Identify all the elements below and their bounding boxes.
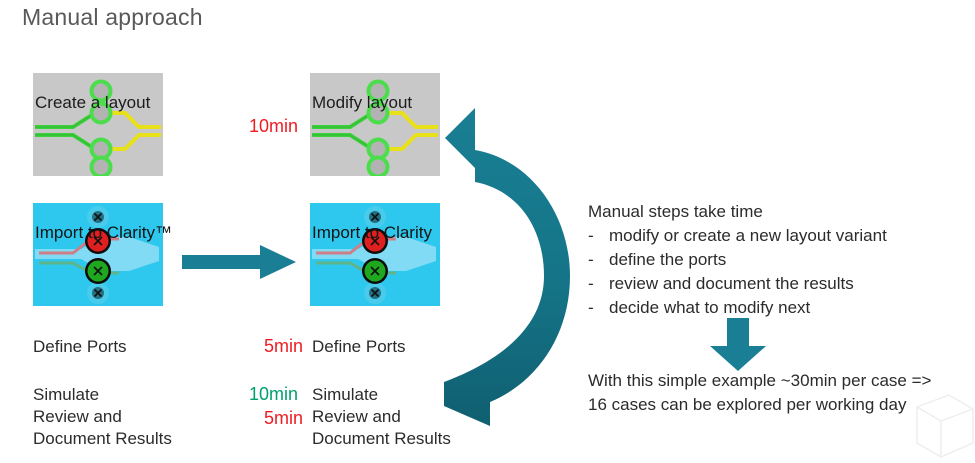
step-document-one: Document Results (33, 428, 172, 450)
arrow-down-icon (708, 318, 768, 372)
bullet-text: review and document the results (609, 272, 854, 296)
bullet-marker: - (588, 296, 595, 320)
bullet-marker: - (588, 224, 595, 248)
clarity-port-schematic-icon (33, 203, 163, 306)
clarity-caption-one: Import to Clarity™ (35, 223, 172, 243)
page-title: Manual approach (22, 4, 203, 31)
clarity-port-schematic-icon (310, 203, 440, 306)
cube-watermark-icon (865, 393, 975, 463)
conclusion-line-1: With this simple example ~30min per case… (588, 369, 931, 393)
list-item: - review and document the results (588, 272, 887, 296)
clarity-thumbnail-two[interactable]: Import to Clarity (310, 203, 440, 306)
notes-block: Manual steps take time - modify or creat… (588, 200, 887, 320)
clarity-image-two (310, 203, 440, 306)
notes-bullet-list: - modify or create a new layout variant … (588, 224, 887, 320)
timing-simulate: 10min (249, 384, 298, 405)
bullet-text: decide what to modify next (609, 296, 810, 320)
bullet-marker: - (588, 248, 595, 272)
arrow-right-icon (182, 243, 298, 281)
curved-loop-arrow-icon (428, 96, 588, 436)
layout-caption-modify: Modify layout (312, 93, 412, 113)
clarity-thumbnail-one[interactable]: Import to Clarity™ (33, 203, 163, 306)
waveguide-schematic-icon (33, 73, 163, 176)
waveguide-schematic-icon (310, 73, 440, 176)
layout-caption-create: Create a layout (35, 93, 150, 113)
list-item: - decide what to modify next (588, 296, 887, 320)
step-define-ports-one: Define Ports (33, 336, 127, 358)
step-define-ports-two: Define Ports (312, 336, 406, 358)
list-item: - define the ports (588, 248, 887, 272)
step-simulate-one: Simulate (33, 384, 99, 406)
slide-canvas: Manual approach (0, 0, 975, 457)
list-item: - modify or create a new layout variant (588, 224, 887, 248)
step-review-one: Review and (33, 406, 122, 428)
clarity-caption-two: Import to Clarity (312, 223, 432, 243)
bullet-marker: - (588, 272, 595, 296)
timing-review: 5min (264, 408, 303, 429)
layout-image-modify (310, 73, 440, 176)
layout-thumbnail-create[interactable]: Create a layout (33, 73, 163, 176)
clarity-image-one (33, 203, 163, 306)
bullet-text: modify or create a new layout variant (609, 224, 887, 248)
step-simulate-two: Simulate (312, 384, 378, 406)
layout-image-create (33, 73, 163, 176)
step-review-two: Review and (312, 406, 401, 428)
notes-heading: Manual steps take time (588, 200, 887, 224)
layout-thumbnail-modify[interactable]: Modify layout (310, 73, 440, 176)
timing-layout: 10min (249, 116, 298, 137)
bullet-text: define the ports (609, 248, 726, 272)
timing-define-ports: 5min (264, 336, 303, 357)
